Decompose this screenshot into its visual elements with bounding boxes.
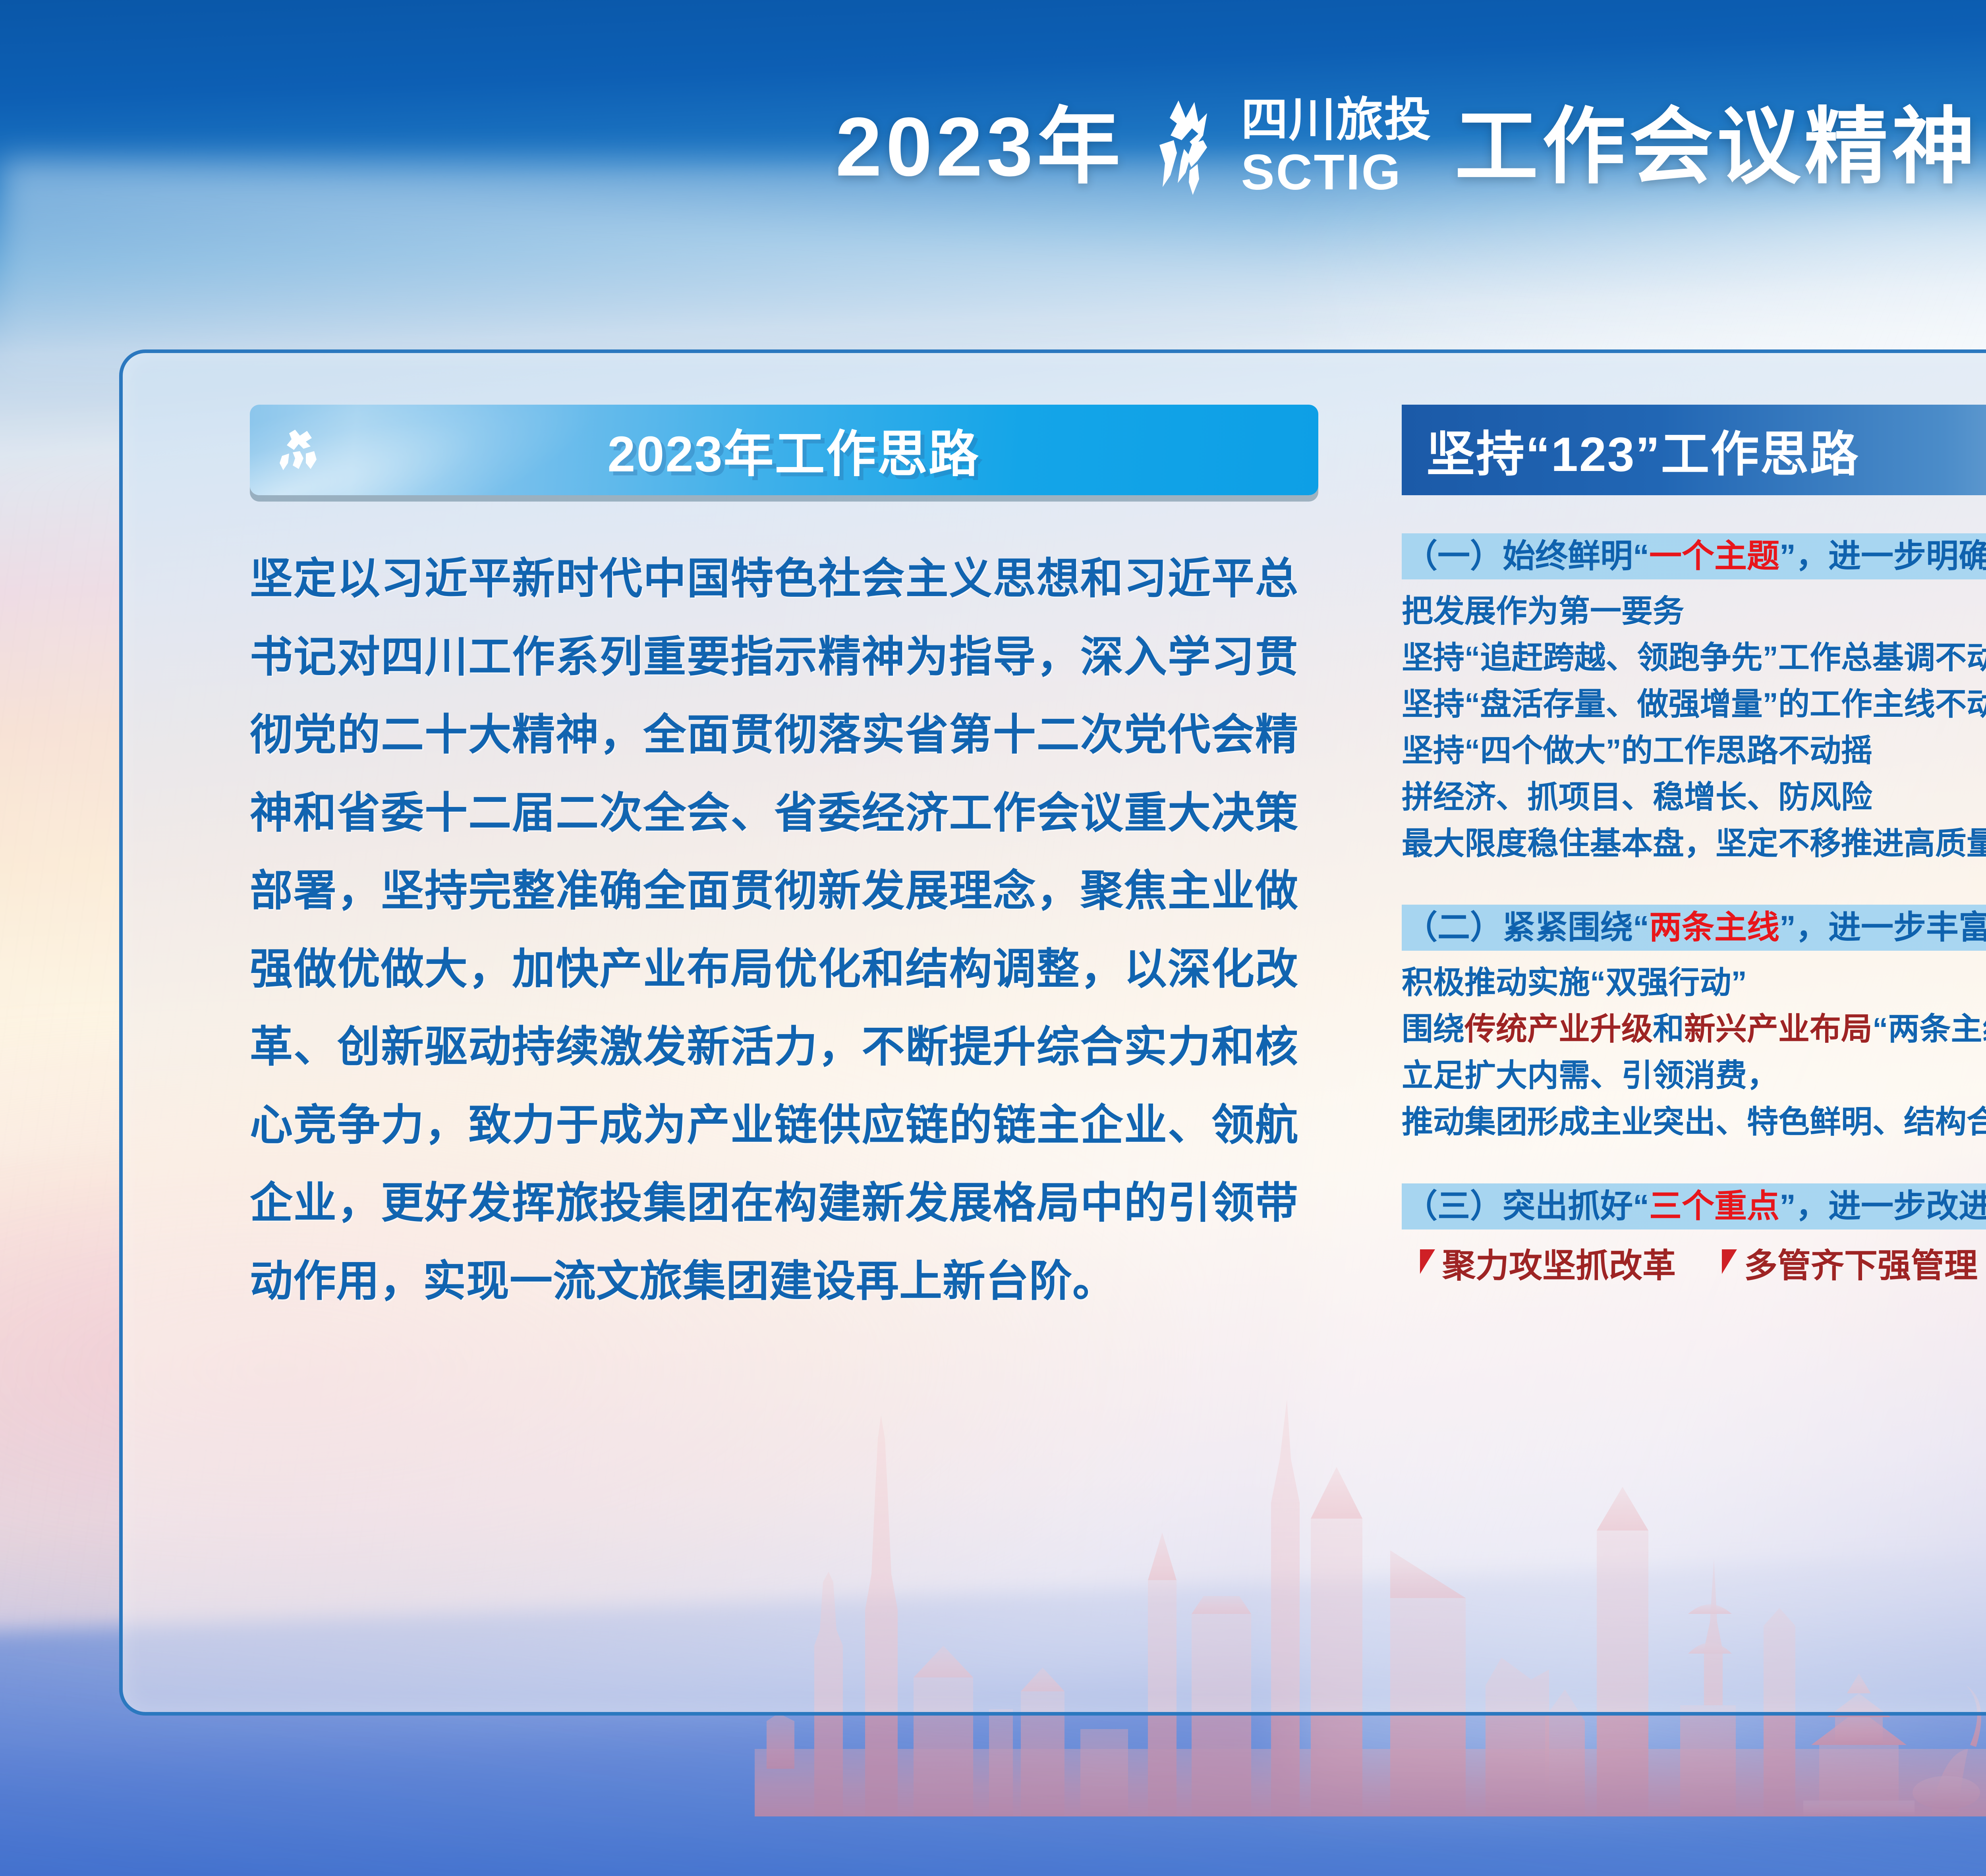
section-two: （二）紧紧围绕“两条主线”，进一步丰富和完善集团高质量发展的产业格局 积极推动实… bbox=[1402, 905, 1986, 1145]
right-panel-heading-text: 坚持“123”工作思路 bbox=[1426, 415, 1860, 485]
left-column: 2023年工作思路 坚定以习近平新时代中国特色社会主义思想和习近平总书记对四川工… bbox=[123, 353, 1354, 1712]
section-three: （三）突出抓好“三个重点”，进一步改进提升公司治理体系和治理效能 聚力攻坚抓改革… bbox=[1402, 1183, 1986, 1287]
right-panel-sections: （一）始终鲜明“一个主题”，进一步明确做好全年工作的总体要求 把发展作为第一要务… bbox=[1402, 533, 1986, 1287]
left-panel-body-text: 坚定以习近平新时代中国特色社会主义思想和习近平总书记对四川工作系列重要指示精神为… bbox=[250, 540, 1298, 1320]
right-panel-heading-bar: 坚持“123”工作思路 bbox=[1402, 405, 1986, 495]
poster-header: 2023年 四川旅投 SCTIG 工作会议精神 bbox=[0, 87, 1986, 207]
section-three-bullets: 聚力攻坚抓改革 多管齐下强管理 压实责任保安全 bbox=[1402, 1239, 1986, 1287]
bullet-label: 多管齐下强管理 bbox=[1744, 1239, 1978, 1287]
section-two-line-2: 立足扩大内需、引领消费， bbox=[1402, 1052, 1986, 1099]
section-two-line-mixed: 围绕传统产业升级和新兴产业布局“两条主线” bbox=[1402, 1006, 1986, 1052]
globe-icon bbox=[269, 420, 328, 480]
section-one-line-2: 坚持“追赶跨越、领跑争先”工作总基调不动摇 bbox=[1402, 635, 1986, 681]
triangle-marker-icon bbox=[1420, 1249, 1435, 1274]
bullet-item: 聚力攻坚抓改革 bbox=[1420, 1239, 1676, 1287]
section-two-heading-text: （二）紧紧围绕“两条主线”，进一步丰富和完善集团高质量发展的产业格局 bbox=[1405, 911, 1986, 944]
section-one-heading: （一）始终鲜明“一个主题”，进一步明确做好全年工作的总体要求 bbox=[1402, 533, 1986, 579]
right-column: 坚持“123”工作思路 （一）始终鲜明“一个主题”，进一步明确做好全年工作的总体… bbox=[1354, 353, 1986, 1712]
triangle-marker-icon bbox=[1722, 1249, 1737, 1274]
section-one-heading-text: （一）始终鲜明“一个主题”，进一步明确做好全年工作的总体要求 bbox=[1405, 540, 1986, 573]
section-one-line-1: 把发展作为第一要务 bbox=[1402, 588, 1986, 635]
section-three-heading-text: （三）突出抓好“三个重点”，进一步改进提升公司治理体系和治理效能 bbox=[1405, 1190, 1986, 1223]
header-year-title: 2023年 bbox=[835, 105, 1124, 189]
section-two-heading: （二）紧紧围绕“两条主线”，进一步丰富和完善集团高质量发展的产业格局 bbox=[1402, 905, 1986, 951]
header-meeting-title: 工作会议精神 bbox=[1455, 105, 1979, 189]
bullet-label: 聚力攻坚抓改革 bbox=[1442, 1239, 1676, 1287]
left-panel-heading-text: 2023年工作思路 bbox=[328, 414, 1318, 486]
poster-root: 2023年 四川旅投 SCTIG 工作会议精神 bbox=[0, 0, 1986, 1876]
logo-chinese-name: 四川旅投 bbox=[1241, 97, 1432, 143]
section-two-line-3: 推动集团形成主业突出、特色鲜明、结构合理、发展协同的产业格局。 bbox=[1402, 1099, 1986, 1145]
left-panel-heading-pill: 2023年工作思路 bbox=[250, 405, 1318, 495]
section-two-line-1: 积极推动实施“双强行动” bbox=[1402, 959, 1986, 1006]
logo-english-name: SCTIG bbox=[1241, 147, 1432, 197]
section-one: （一）始终鲜明“一个主题”，进一步明确做好全年工作的总体要求 把发展作为第一要务… bbox=[1402, 533, 1986, 867]
content-card: 2023年工作思路 坚定以习近平新时代中国特色社会主义思想和习近平总书记对四川工… bbox=[119, 349, 1986, 1716]
company-logo: 四川旅投 SCTIG bbox=[1148, 97, 1432, 197]
sctig-bird-mark-icon bbox=[1148, 97, 1231, 197]
section-one-line-6: 最大限度稳住基本盘，坚定不移推进高质量发展。 bbox=[1402, 820, 1986, 867]
section-one-line-5: 拼经济、抓项目、稳增长、防风险 bbox=[1402, 774, 1986, 820]
section-three-heading: （三）突出抓好“三个重点”，进一步改进提升公司治理体系和治理效能 bbox=[1402, 1183, 1986, 1229]
section-one-line-3: 坚持“盘活存量、做强增量”的工作主线不动摇 bbox=[1402, 681, 1986, 728]
bullet-item: 多管齐下强管理 bbox=[1722, 1239, 1978, 1287]
section-one-line-4: 坚持“四个做大”的工作思路不动摇 bbox=[1402, 728, 1986, 774]
